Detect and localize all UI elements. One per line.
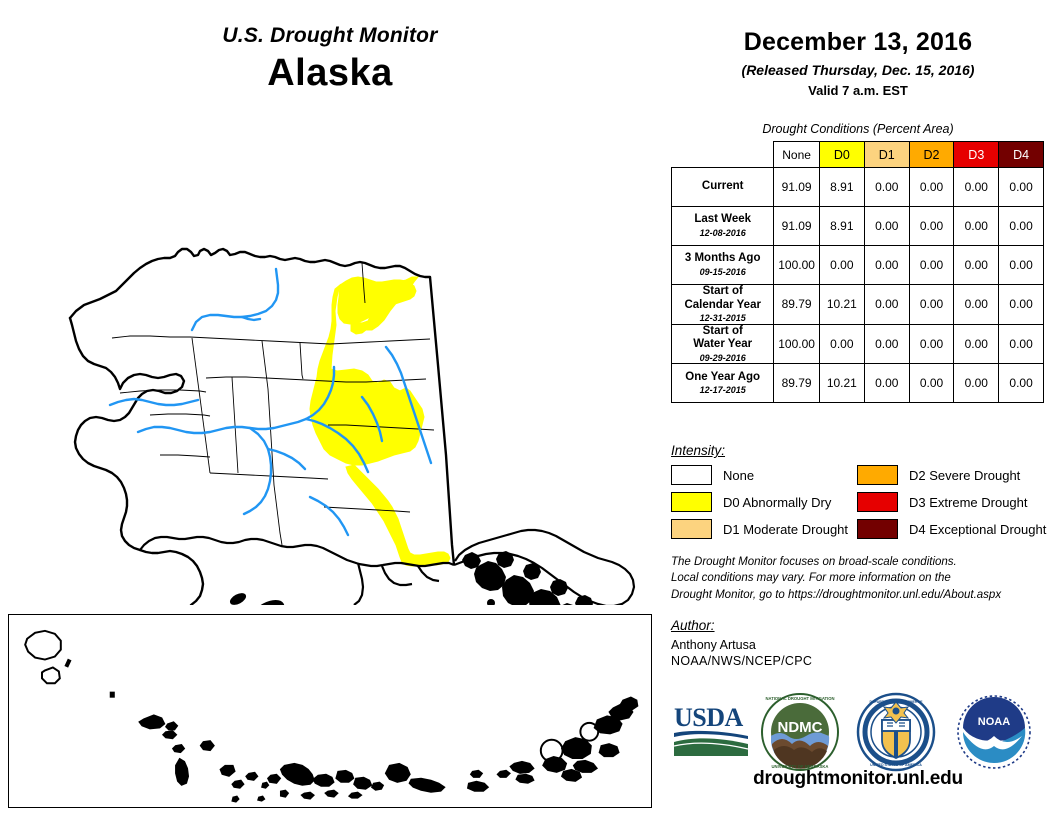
page-title: U.S. Drought Monitor xyxy=(0,24,660,48)
cell-d0: 0.00 xyxy=(819,246,864,285)
disclaimer-line-3: Drought Monitor, go to https://droughtmo… xyxy=(671,587,1051,603)
cell-d4: 0.00 xyxy=(999,207,1044,246)
noaa-wordmark: NOAA xyxy=(978,716,1010,728)
usda-logo[interactable]: USDA xyxy=(672,700,750,760)
cell-d4: 0.00 xyxy=(999,168,1044,207)
cell-d0: 8.91 xyxy=(819,207,864,246)
cell-d4: 0.00 xyxy=(999,324,1044,364)
data-panel: December 13, 2016 (Released Thursday, De… xyxy=(660,0,1056,816)
svg-text:UNITED STATES OF AMERICA: UNITED STATES OF AMERICA xyxy=(870,763,922,767)
row-label-text: 3 Months Ago xyxy=(672,252,773,266)
column-header-d3: D3 xyxy=(954,142,999,168)
table-row: 3 Months Ago 09-15-2016 100.00 0.00 0.00… xyxy=(672,246,1044,285)
table-corner-cell xyxy=(672,142,774,168)
column-header-d1: D1 xyxy=(864,142,909,168)
cell-d4: 0.00 xyxy=(999,285,1044,325)
legend-grid: None D2 Severe Drought D0 Abnormally Dry… xyxy=(671,465,1051,539)
cell-d3: 0.00 xyxy=(954,285,999,325)
canada-border xyxy=(430,277,454,565)
swatch-d2-icon xyxy=(857,465,898,485)
intensity-title: Intensity: xyxy=(671,443,1051,458)
cell-none: 91.09 xyxy=(774,168,819,207)
column-header-d0: D0 xyxy=(819,142,864,168)
cell-d3: 0.00 xyxy=(954,168,999,207)
logo-row: USDA NDMC NATIONAL DROUGHT M xyxy=(660,690,1056,780)
table-body: Current 91.09 8.91 0.00 0.00 0.00 0.00 L… xyxy=(672,168,1044,403)
column-header-d2: D2 xyxy=(909,142,954,168)
cell-d3: 0.00 xyxy=(954,324,999,364)
legend-item-d1: D1 Moderate Drought xyxy=(671,519,857,539)
table-row: Current 91.09 8.91 0.00 0.00 0.00 0.00 xyxy=(672,168,1044,207)
table-caption: Drought Conditions (Percent Area) xyxy=(660,122,1056,136)
kodiak-islands xyxy=(229,592,303,605)
noaa-logo[interactable]: NOAA xyxy=(954,692,1034,772)
cell-d4: 0.00 xyxy=(999,364,1044,403)
legend-label: D1 Moderate Drought xyxy=(723,522,848,537)
date-block: December 13, 2016 (Released Thursday, De… xyxy=(660,28,1056,98)
map-title-block: U.S. Drought Monitor Alaska xyxy=(0,24,660,95)
drought-conditions-table: None D0 D1 D2 D3 D4 Current 91.09 8.91 0… xyxy=(671,141,1044,403)
legend-label: None xyxy=(723,468,754,483)
row-label-current: Current xyxy=(672,168,774,207)
legend-item-d3: D3 Extreme Drought xyxy=(857,492,1051,512)
table-row: Start of Water Year 09-29-2016 100.00 0.… xyxy=(672,324,1044,364)
swatch-d4-icon xyxy=(857,519,898,539)
aleutian-island-shapes xyxy=(25,631,638,802)
table-row: Last Week 12-08-2016 91.09 8.91 0.00 0.0… xyxy=(672,207,1044,246)
aleutian-islands-inset[interactable] xyxy=(8,614,652,808)
row-label-text: One Year Ago xyxy=(672,371,773,385)
cell-d0: 0.00 xyxy=(819,324,864,364)
cell-d1: 0.00 xyxy=(864,168,909,207)
legend-item-d0: D0 Abnormally Dry xyxy=(671,492,857,512)
cell-d0: 8.91 xyxy=(819,168,864,207)
row-label-text: Current xyxy=(672,180,773,194)
cell-d2: 0.00 xyxy=(909,364,954,403)
alaska-west-coast xyxy=(70,318,184,550)
cell-none: 89.79 xyxy=(774,364,819,403)
ndmc-logo[interactable]: NDMC NATIONAL DROUGHT MITIGATION UNIVERS… xyxy=(760,692,840,772)
swatch-d3-icon xyxy=(857,492,898,512)
cell-d3: 0.00 xyxy=(954,246,999,285)
cell-d1: 0.00 xyxy=(864,285,909,325)
cell-none: 89.79 xyxy=(774,285,819,325)
row-label-last-week: Last Week 12-08-2016 xyxy=(672,207,774,246)
row-label-date: 12-08-2016 xyxy=(672,228,773,239)
report-date: December 13, 2016 xyxy=(660,28,1056,57)
author-organization: NOAA/NWS/NCEP/CPC xyxy=(671,654,1051,668)
row-label-date: 09-29-2016 xyxy=(672,353,773,364)
cell-d2: 0.00 xyxy=(909,207,954,246)
swatch-d0-icon xyxy=(671,492,712,512)
disclaimer-line-2: Local conditions may vary. For more info… xyxy=(671,570,1051,586)
disclaimer: The Drought Monitor focuses on broad-sca… xyxy=(671,554,1051,603)
svg-text:DEPARTMENT OF COMMERCE: DEPARTMENT OF COMMERCE xyxy=(869,700,923,704)
author-title: Author: xyxy=(671,618,1051,633)
table-row: Start of Calendar Year 12-31-2015 89.79 … xyxy=(672,285,1044,325)
release-date: (Released Thursday, Dec. 15, 2016) xyxy=(660,62,1056,78)
row-label-date: 12-17-2015 xyxy=(672,385,773,396)
cell-d3: 0.00 xyxy=(954,364,999,403)
row-label-3-months-ago: 3 Months Ago 09-15-2016 xyxy=(672,246,774,285)
swatch-d1-icon xyxy=(671,519,712,539)
row-label-date: 09-15-2016 xyxy=(672,267,773,278)
table-header-row: None D0 D1 D2 D3 D4 xyxy=(672,142,1044,168)
cell-d2: 0.00 xyxy=(909,285,954,325)
cell-d1: 0.00 xyxy=(864,207,909,246)
cell-d3: 0.00 xyxy=(954,207,999,246)
alaska-main-map[interactable] xyxy=(10,125,660,605)
commerce-seal-logo[interactable]: DEPARTMENT OF COMMERCE UNITED STATES OF … xyxy=(856,692,936,772)
cell-d4: 0.00 xyxy=(999,246,1044,285)
usda-wordmark: USDA xyxy=(674,703,744,732)
column-header-none: None xyxy=(774,142,819,168)
author-block: Author: Anthony Artusa NOAA/NWS/NCEP/CPC xyxy=(671,618,1051,668)
d0-drought-area-south xyxy=(346,465,450,566)
row-label-text: Start of Water Year xyxy=(672,325,773,352)
legend-label: D3 Extreme Drought xyxy=(909,495,1028,510)
cell-d0: 10.21 xyxy=(819,285,864,325)
intensity-legend: Intensity: None D2 Severe Drought D0 Abn… xyxy=(671,443,1051,539)
legend-item-d4: D4 Exceptional Drought xyxy=(857,519,1051,539)
cell-d2: 0.00 xyxy=(909,168,954,207)
cell-none: 100.00 xyxy=(774,246,819,285)
author-name: Anthony Artusa xyxy=(671,638,1051,652)
map-layers xyxy=(70,249,634,605)
cell-d1: 0.00 xyxy=(864,364,909,403)
column-header-d4: D4 xyxy=(999,142,1044,168)
row-label-start-water-year: Start of Water Year 09-29-2016 xyxy=(672,324,774,364)
cell-none: 91.09 xyxy=(774,207,819,246)
table-row: One Year Ago 12-17-2015 89.79 10.21 0.00… xyxy=(672,364,1044,403)
cell-d2: 0.00 xyxy=(909,246,954,285)
alaska-peninsula xyxy=(140,550,203,605)
website-url[interactable]: droughtmonitor.unl.edu xyxy=(660,768,1056,790)
svg-text:NATIONAL DROUGHT MITIGATION: NATIONAL DROUGHT MITIGATION xyxy=(765,696,834,701)
cell-d0: 10.21 xyxy=(819,364,864,403)
cell-d2: 0.00 xyxy=(909,324,954,364)
map-panel: U.S. Drought Monitor Alaska xyxy=(0,0,660,816)
legend-item-d2: D2 Severe Drought xyxy=(857,465,1051,485)
row-label-text: Last Week xyxy=(672,213,773,227)
row-label-start-calendar-year: Start of Calendar Year 12-31-2015 xyxy=(672,285,774,325)
row-label-one-year-ago: One Year Ago 12-17-2015 xyxy=(672,364,774,403)
region-title: Alaska xyxy=(0,52,660,95)
cell-d1: 0.00 xyxy=(864,246,909,285)
ndmc-wordmark: NDMC xyxy=(778,719,823,736)
kenai-prince-william xyxy=(354,563,439,605)
row-label-date: 12-31-2015 xyxy=(672,313,773,324)
drought-monitor-page: U.S. Drought Monitor Alaska xyxy=(0,0,1056,816)
swatch-none-icon xyxy=(671,465,712,485)
valid-time: Valid 7 a.m. EST xyxy=(660,83,1056,98)
southeast-panhandle xyxy=(454,530,634,605)
cell-d1: 0.00 xyxy=(864,324,909,364)
legend-label: D0 Abnormally Dry xyxy=(723,495,831,510)
cell-none: 100.00 xyxy=(774,324,819,364)
row-label-text: Start of Calendar Year xyxy=(672,285,773,312)
legend-label: D4 Exceptional Drought xyxy=(909,522,1046,537)
legend-label: D2 Severe Drought xyxy=(909,468,1020,483)
legend-item-none: None xyxy=(671,465,857,485)
disclaimer-line-1: The Drought Monitor focuses on broad-sca… xyxy=(671,554,1051,570)
